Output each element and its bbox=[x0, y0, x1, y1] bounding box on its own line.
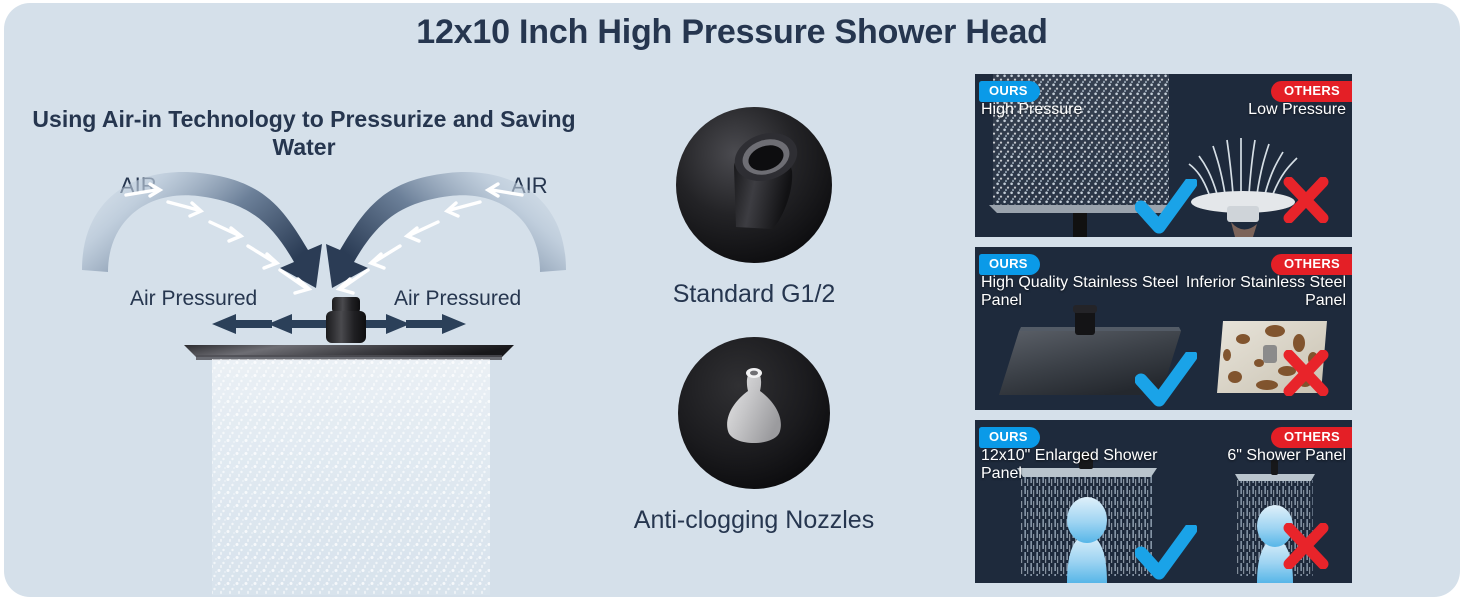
silicone-nozzle-icon bbox=[676, 335, 832, 491]
cross-icon bbox=[1282, 523, 1330, 569]
badge-ours: OURS bbox=[979, 81, 1040, 102]
infographic-canvas: 12x10 Inch High Pressure Shower Head Usi… bbox=[4, 3, 1460, 597]
feature-caption-nozzle: Anti-clogging Nozzles bbox=[594, 506, 914, 535]
others-label-pressure: Low Pressure bbox=[1156, 101, 1346, 119]
badge-others: OTHERS bbox=[1271, 254, 1352, 275]
product-features-section: Standard G1/2 bbox=[594, 73, 914, 593]
feature-item-nozzle: Anti-clogging Nozzles bbox=[594, 335, 914, 535]
infographic-page: 12x10 Inch High Pressure Shower Head Usi… bbox=[0, 0, 1464, 600]
feature-caption-connector: Standard G1/2 bbox=[594, 280, 914, 309]
feature-item-connector: Standard G1/2 bbox=[594, 105, 914, 309]
others-label-size: 6" Shower Panel bbox=[1156, 447, 1346, 465]
badge-others: OTHERS bbox=[1271, 427, 1352, 448]
check-icon bbox=[1135, 525, 1197, 581]
check-icon bbox=[1135, 179, 1197, 235]
comparison-panel-pressure: OURS OTHERS High Pressure Low Pressure bbox=[975, 74, 1352, 237]
comparison-panel-material: OURS OTHERS High Quality Stainless Steel… bbox=[975, 247, 1352, 410]
cross-icon bbox=[1282, 350, 1330, 396]
badge-others: OTHERS bbox=[1271, 81, 1352, 102]
shower-head-spray-illustration bbox=[154, 295, 554, 595]
comparison-panels-section: OURS OTHERS High Pressure Low Pressure bbox=[975, 74, 1352, 593]
others-label-material: Inferior Stainless Steel Panel bbox=[1156, 274, 1346, 310]
g-half-connector-icon bbox=[674, 105, 834, 265]
air-technology-section: Using Air-in Technology to Pressurize an… bbox=[24, 65, 644, 590]
page-title: 12x10 Inch High Pressure Shower Head bbox=[4, 13, 1460, 52]
cross-icon bbox=[1282, 177, 1330, 223]
badge-ours: OURS bbox=[979, 427, 1040, 448]
badge-ours: OURS bbox=[979, 254, 1040, 275]
check-icon bbox=[1135, 352, 1197, 408]
comparison-panel-size: OURS OTHERS 12x10" Enlarged Shower Panel… bbox=[975, 420, 1352, 583]
